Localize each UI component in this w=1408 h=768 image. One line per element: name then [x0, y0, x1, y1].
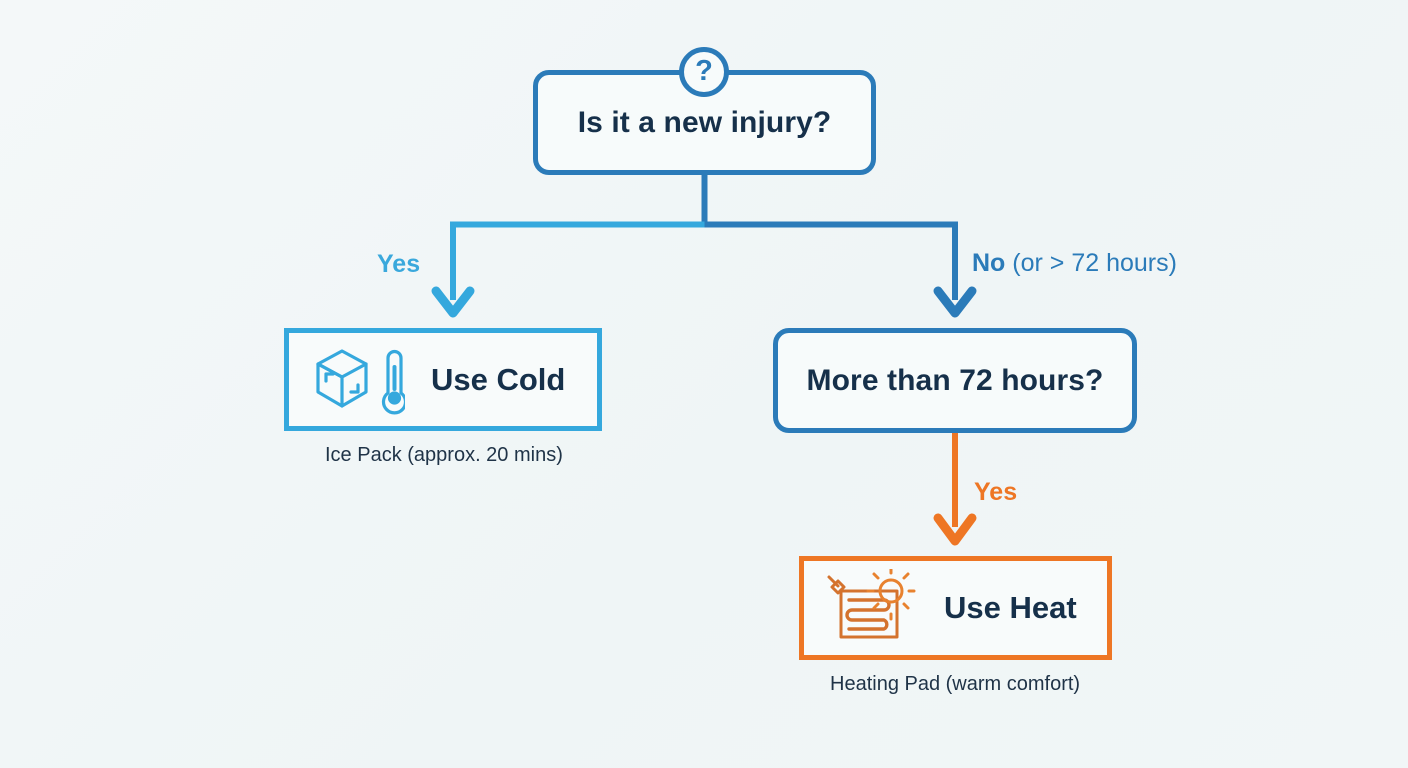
edge-label-no-or-72-hours: No (or > 72 hours): [972, 249, 1177, 278]
node-more-than-72-hours[interactable]: More than 72 hours?: [773, 328, 1137, 433]
caption-text: Heating Pad (warm comfort): [830, 673, 1080, 695]
heating-pad-sun-icon-group: [824, 569, 916, 647]
thermometer-icon: [384, 351, 406, 412]
node-use-cold[interactable]: Use Cold: [284, 328, 602, 431]
flowchart-canvas: Is it a new injury? ? Yes No (or > 72 ho…: [0, 0, 1408, 768]
question-mark-glyph: ?: [695, 57, 713, 86]
caption-use-cold: Ice Pack (approx. 20 mins): [325, 444, 563, 467]
ice-cube-icon: [311, 345, 405, 415]
question-mark-icon: ?: [679, 47, 729, 97]
edge-label-bold: No: [972, 249, 1005, 277]
node-label: Is it a new injury?: [578, 106, 832, 140]
heating-pad-icon: [824, 569, 916, 647]
edge-label-rest: (or > 72 hours): [1005, 249, 1177, 277]
edge-root-to-cold: [453, 225, 705, 301]
caption-use-heat: Heating Pad (warm comfort): [830, 673, 1080, 696]
node-use-heat[interactable]: Use Heat: [799, 556, 1112, 660]
edge-label-text: Yes: [974, 478, 1017, 506]
ice-cube-thermometer-icon-group: [311, 345, 405, 415]
edge-label-yes-heat: Yes: [974, 478, 1017, 507]
node-label: Use Heat: [944, 590, 1077, 626]
edge-root-to-more72: [705, 225, 956, 301]
node-label: Use Cold: [431, 362, 565, 398]
edge-label-text: Yes: [377, 250, 420, 278]
caption-text: Ice Pack (approx. 20 mins): [325, 444, 563, 466]
node-label: More than 72 hours?: [807, 364, 1104, 398]
edge-label-yes-cold: Yes: [377, 250, 420, 279]
